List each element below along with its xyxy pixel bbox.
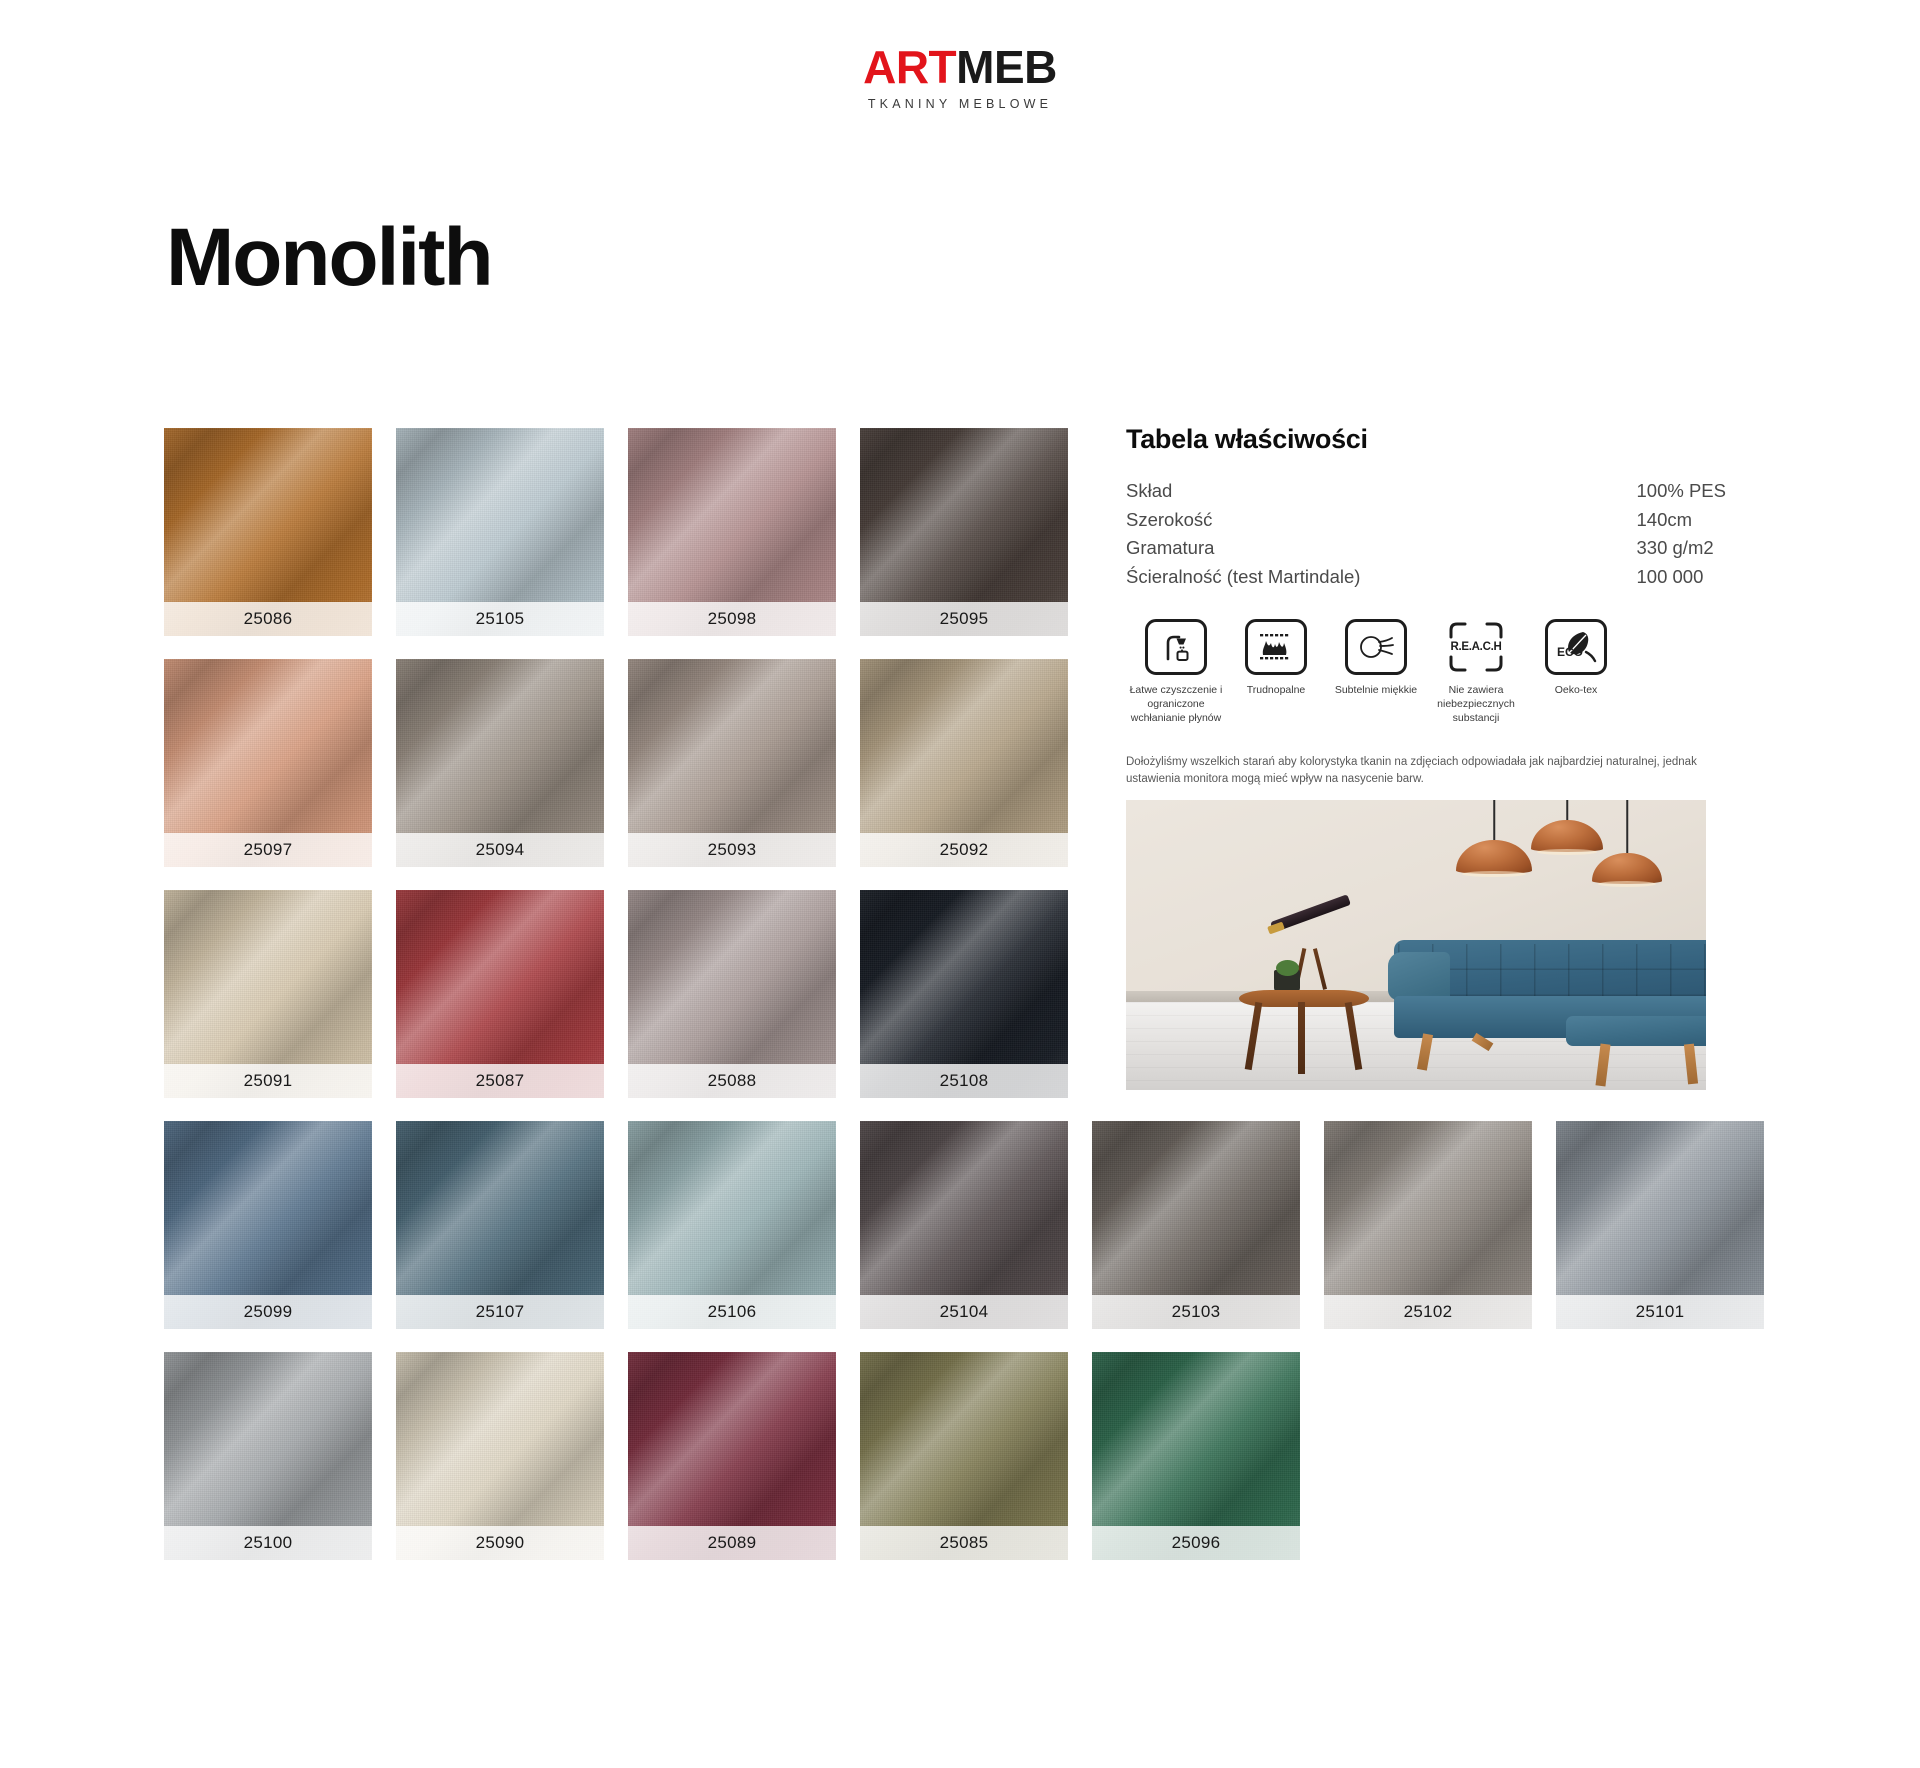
- feature-reach: R.E.A.C.H Nie zawiera niebezpiecznych su…: [1426, 619, 1526, 726]
- swatch-tile[interactable]: 25105: [396, 428, 604, 636]
- svg-text:ECO: ECO: [1557, 645, 1583, 659]
- swatch-tile[interactable]: 25099: [164, 1121, 372, 1329]
- swatch-code: 25108: [860, 1064, 1068, 1098]
- spec-value: 100% PES: [1377, 479, 1726, 508]
- swatch-row-5: 25100 25090 25089 25085 25096: [164, 1352, 1724, 1560]
- swatch-code: 25087: [396, 1064, 604, 1098]
- swatch-tile[interactable]: 25108: [860, 890, 1068, 1098]
- properties-table: Skład 100% PES Szerokość 140cm Gramatura…: [1126, 479, 1726, 593]
- page-title: Monolith: [166, 217, 492, 299]
- reach-badge-text: R.E.A.C.H: [1451, 641, 1502, 653]
- swatch-code: 25103: [1092, 1295, 1300, 1329]
- feature-easy-clean: Łatwe czyszczenie i ograniczone wchłania…: [1126, 619, 1226, 726]
- spec-value: 100 000: [1377, 565, 1726, 594]
- swatch-row-4: 25099 25107 25106 25104 25103 25102: [164, 1121, 1724, 1329]
- swatch-tile[interactable]: 25101: [1556, 1121, 1764, 1329]
- swatch-code: 25096: [1092, 1526, 1300, 1560]
- table-row: Ścieralność (test Martindale) 100 000: [1126, 565, 1726, 594]
- swatch-tile[interactable]: 25100: [164, 1352, 372, 1560]
- logo-wordmark: ARTMEB: [0, 44, 1920, 90]
- swatch-code: 25097: [164, 833, 372, 867]
- swatch-tile[interactable]: 25102: [1324, 1121, 1532, 1329]
- pendant-lamp-left: [1456, 800, 1532, 880]
- reach-icon: R.E.A.C.H: [1445, 619, 1507, 675]
- feature-flame-retardant: Trudnopalne: [1226, 619, 1326, 726]
- swatch-tile[interactable]: 25094: [396, 659, 604, 867]
- swatch-tile[interactable]: 25107: [396, 1121, 604, 1329]
- feature-icons-row: Łatwe czyszczenie i ograniczone wchłania…: [1126, 619, 1726, 726]
- swatch-code: 25092: [860, 833, 1068, 867]
- swatch-tile[interactable]: 25096: [1092, 1352, 1300, 1560]
- swatch-code: 25100: [164, 1526, 372, 1560]
- spec-label: Skład: [1126, 479, 1377, 508]
- interior-photo: Wnętrze z granatową sofą, miedzianymi la…: [1126, 800, 1706, 1090]
- logo-art-text: ART: [863, 41, 956, 93]
- swatch-tile[interactable]: 25085: [860, 1352, 1068, 1560]
- swatch-tile[interactable]: 25095: [860, 428, 1068, 636]
- spec-label: Gramatura: [1126, 536, 1377, 565]
- soft-touch-icon: [1345, 619, 1407, 675]
- spec-value: 140cm: [1377, 508, 1726, 537]
- swatch-tile[interactable]: 25089: [628, 1352, 836, 1560]
- table-row: Gramatura 330 g/m2: [1126, 536, 1726, 565]
- plant-foliage: [1276, 960, 1299, 976]
- swatch-tile[interactable]: 25087: [396, 890, 604, 1098]
- easy-clean-icon: [1145, 619, 1207, 675]
- swatch-tile[interactable]: 25104: [860, 1121, 1068, 1329]
- swatch-code: 25107: [396, 1295, 604, 1329]
- swatch-tile[interactable]: 25097: [164, 659, 372, 867]
- swatch-code: 25091: [164, 1064, 372, 1098]
- spec-value: 330 g/m2: [1377, 536, 1726, 565]
- swatch-code: 25106: [628, 1295, 836, 1329]
- swatch-code: 25088: [628, 1064, 836, 1098]
- swatch-code: 25105: [396, 602, 604, 636]
- feature-label: Subtelnie miękkie: [1326, 684, 1426, 698]
- swatch-code: 25090: [396, 1526, 604, 1560]
- table-row: Skład 100% PES: [1126, 479, 1726, 508]
- swatch-code: 25093: [628, 833, 836, 867]
- swatch-code: 25085: [860, 1526, 1068, 1560]
- swatch-tile[interactable]: 25093: [628, 659, 836, 867]
- swatch-tile[interactable]: 25090: [396, 1352, 604, 1560]
- swatch-code: 25099: [164, 1295, 372, 1329]
- properties-panel: Tabela właściwości Skład 100% PES Szerok…: [1126, 424, 1726, 824]
- disclaimer-paragraph-1: Dołożyliśmy wszelkich starań aby kolorys…: [1126, 754, 1726, 789]
- swatch-code: 25104: [860, 1295, 1068, 1329]
- logo-tagline: TKANINY MEBLOWE: [0, 97, 1920, 111]
- swatch-code: 25101: [1556, 1295, 1764, 1329]
- swatch-tile[interactable]: 25103: [1092, 1121, 1300, 1329]
- feature-soft-touch: Subtelnie miękkie: [1326, 619, 1426, 726]
- swatch-code: 25102: [1324, 1295, 1532, 1329]
- properties-heading: Tabela właściwości: [1126, 424, 1726, 455]
- bench-ottoman: [1566, 1016, 1706, 1046]
- brand-logo: ARTMEB TKANINY MEBLOWE: [0, 44, 1920, 111]
- feature-label: Nie zawiera niebezpiecznych substancji: [1426, 684, 1526, 726]
- spec-label: Ścieralność (test Martindale): [1126, 565, 1377, 594]
- feature-oeko-tex: ECO Oeko-tex: [1526, 619, 1626, 726]
- pendant-lamp-right: [1592, 800, 1662, 890]
- feature-label: Trudnopalne: [1226, 684, 1326, 698]
- swatch-code: 25086: [164, 602, 372, 636]
- catalog-page: ARTMEB TKANINY MEBLOWE Monolith 25086 25…: [0, 0, 1920, 1768]
- sofa-armrest: [1388, 952, 1450, 1000]
- eco-leaf-icon: ECO: [1545, 619, 1607, 675]
- swatch-tile[interactable]: 25106: [628, 1121, 836, 1329]
- swatch-tile[interactable]: 25092: [860, 659, 1068, 867]
- swatch-code: 25089: [628, 1526, 836, 1560]
- swatch-tile[interactable]: 25098: [628, 428, 836, 636]
- swatch-code: 25094: [396, 833, 604, 867]
- swatch-tile[interactable]: 25088: [628, 890, 836, 1098]
- swatch-code: 25095: [860, 602, 1068, 636]
- feature-label: Oeko-tex: [1526, 684, 1626, 698]
- spec-label: Szerokość: [1126, 508, 1377, 537]
- flame-retardant-icon: [1245, 619, 1307, 675]
- side-table-leg: [1298, 1002, 1305, 1074]
- logo-meb-text: MEB: [956, 41, 1057, 93]
- swatch-tile[interactable]: 25086: [164, 428, 372, 636]
- feature-label: Łatwe czyszczenie i ograniczone wchłania…: [1126, 684, 1226, 726]
- swatch-code: 25098: [628, 602, 836, 636]
- swatch-tile[interactable]: 25091: [164, 890, 372, 1098]
- table-row: Szerokość 140cm: [1126, 508, 1726, 537]
